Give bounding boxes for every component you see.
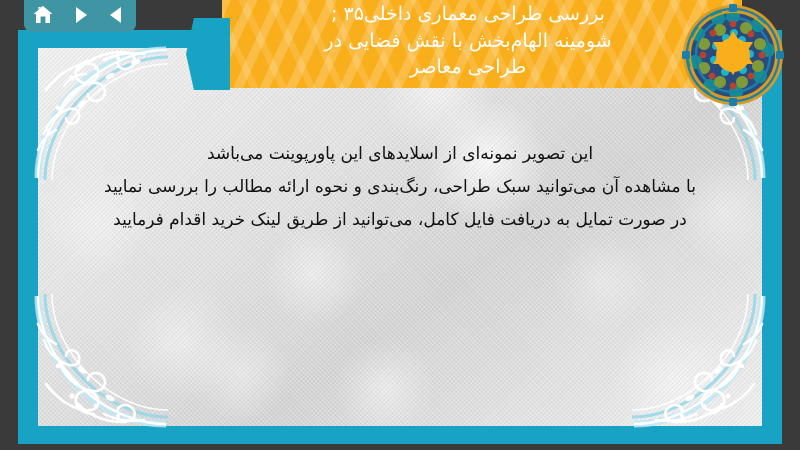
title-line-2: شومینه الهام‌بخش با نقش فضایی در <box>324 28 611 55</box>
persian-medallion <box>680 2 786 108</box>
body-line-3: در صورت تمایل به دریافت فایل کامل، می‌تو… <box>58 204 742 237</box>
slide-viewer: این تصویر نمونه‌ای از اسلایدهای این پاور… <box>0 0 800 450</box>
previous-slide-button[interactable] <box>104 3 130 27</box>
slide-frame: این تصویر نمونه‌ای از اسلایدهای این پاور… <box>18 30 782 444</box>
title-line-3: طراحی معاصر <box>410 54 526 81</box>
slide-body-text: این تصویر نمونه‌ای از اسلایدهای این پاور… <box>58 138 742 237</box>
triangle-left-icon <box>107 5 127 25</box>
home-icon <box>32 5 54 25</box>
banner-arrow-tail <box>186 18 230 90</box>
triangle-right-icon <box>70 5 90 25</box>
navigation-bar <box>24 0 136 32</box>
next-slide-button[interactable] <box>67 3 93 27</box>
title-line-1: بررسی طراحی معماری داخلی۳۵ ; <box>331 1 605 28</box>
body-line-1: این تصویر نمونه‌ای از اسلایدهای این پاور… <box>58 138 742 171</box>
home-button[interactable] <box>30 3 56 27</box>
slide-title-banner: بررسی طراحی معماری داخلی۳۵ ; شومینه الها… <box>222 0 742 88</box>
slide-title: بررسی طراحی معماری داخلی۳۵ ; شومینه الها… <box>222 0 742 88</box>
body-line-2: با مشاهده آن می‌توانید سبک طراحی، رنگ‌بن… <box>58 171 742 204</box>
